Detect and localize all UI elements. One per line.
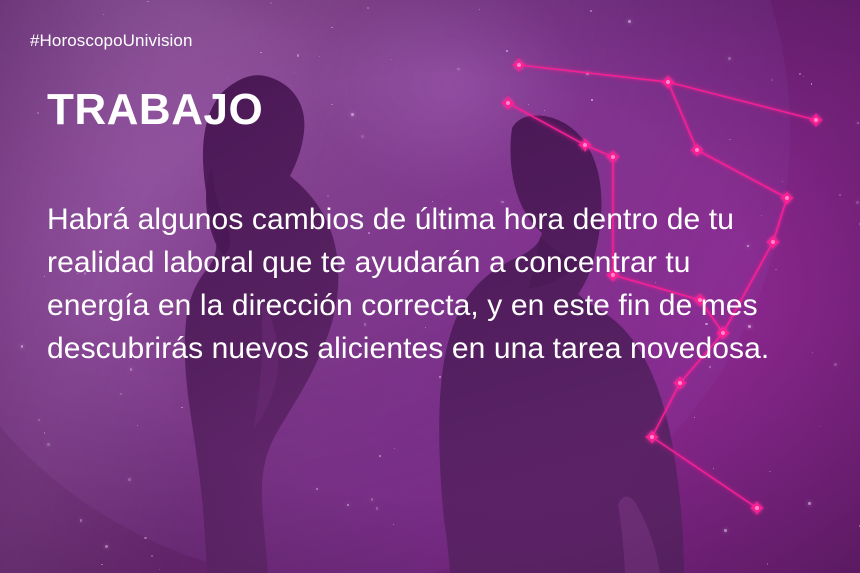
body-line: Habrá algunos cambios de última hora den…	[47, 198, 837, 241]
body-line: realidad laboral que te ayudarán a conce…	[47, 241, 837, 284]
horoscope-card: #HoroscopoUnivision TRABAJO Habrá alguno…	[0, 0, 860, 573]
hashtag-label: #HoroscopoUnivision	[30, 31, 193, 51]
body-line: descubrirás nuevos alicientes en una tar…	[47, 327, 837, 370]
page-title: TRABAJO	[47, 88, 263, 132]
body-line: energía en la dirección correcta, y en e…	[47, 284, 837, 327]
text-layer: #HoroscopoUnivision TRABAJO Habrá alguno…	[0, 0, 860, 573]
horoscope-body-text: Habrá algunos cambios de última hora den…	[47, 198, 837, 370]
